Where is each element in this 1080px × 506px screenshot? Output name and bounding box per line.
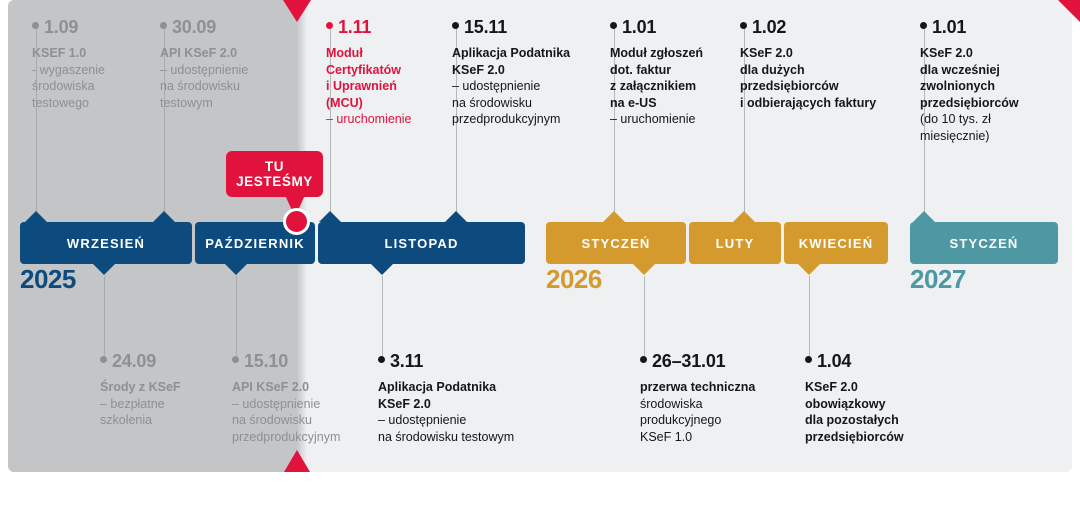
- current-position-callout: TU JESTEŚMY: [226, 151, 323, 197]
- event-description: ModułCertyfikatówi Uprawnień(MCU)– uruch…: [326, 45, 446, 128]
- timeline-event: 26–31.01przerwa technicznaśrodowiskaprod…: [640, 352, 790, 445]
- event-description: Środy z KSeF– bezpłatneszkolenia: [100, 379, 218, 429]
- year-label: 2025: [20, 264, 76, 295]
- connector-line: [382, 276, 383, 356]
- connector-line: [809, 276, 810, 356]
- bullet-dot-icon: [32, 22, 39, 29]
- event-description-line: przedprodukcyjnym: [452, 111, 602, 128]
- event-description-line: - wygaszenie: [32, 62, 152, 79]
- segment-notch-up-icon: [153, 211, 175, 222]
- callout-line-1: TU: [265, 159, 284, 174]
- event-description: Aplikacja PodatnikaKSeF 2.0– udostępnien…: [378, 379, 578, 445]
- event-description: Aplikacja PodatnikaKSeF 2.0– udostępnien…: [452, 45, 602, 128]
- segment-notch-up-icon: [603, 211, 625, 222]
- event-description-line: Aplikacja Podatnika: [452, 45, 602, 62]
- timeline-event: 1.09KSEF 1.0- wygaszenieśrodowiskatestow…: [32, 18, 152, 111]
- segment-notch-down-icon: [371, 264, 393, 275]
- event-description-line: przerwa techniczna: [640, 379, 790, 396]
- event-description-line: API KSeF 2.0: [232, 379, 360, 396]
- event-date: 1.02: [740, 18, 900, 36]
- timeline-month-segment[interactable]: WRZESIEŃ: [20, 222, 192, 264]
- timeline-event: 15.11Aplikacja PodatnikaKSeF 2.0– udostę…: [452, 18, 602, 128]
- bullet-dot-icon: [610, 22, 617, 29]
- event-description-line: KSeF 2.0: [920, 45, 1070, 62]
- event-description-line: testowym: [160, 95, 288, 112]
- event-description: KSEF 1.0- wygaszenieśrodowiskatestowego: [32, 45, 152, 111]
- event-description-line: – udostępnienie: [160, 62, 288, 79]
- event-date-text: 1.09: [44, 17, 78, 37]
- event-description-line: – udostępnienie: [452, 78, 602, 95]
- event-description: KSeF 2.0dla dużychprzedsiębiorcówi odbie…: [740, 45, 900, 111]
- timeline-month-label: KWIECIEŃ: [799, 236, 874, 251]
- event-description-line: z załącznikiem: [610, 78, 736, 95]
- event-date: 24.09: [100, 352, 218, 370]
- event-description-line: Moduł zgłoszeń: [610, 45, 736, 62]
- bullet-dot-icon: [160, 22, 167, 29]
- event-description-line: – uruchomienie: [610, 111, 736, 128]
- event-date-text: 1.11: [338, 17, 371, 37]
- timeline-event: 3.11Aplikacja PodatnikaKSeF 2.0– udostęp…: [378, 352, 578, 445]
- event-description-line: i Uprawnień: [326, 78, 446, 95]
- timeline-event: 1.02KSeF 2.0dla dużychprzedsiębiorcówi o…: [740, 18, 900, 111]
- segment-notch-down-icon: [633, 264, 655, 275]
- timeline-event: 30.09API KSeF 2.0– udostępnieniena środo…: [160, 18, 288, 111]
- segment-notch-up-icon: [25, 211, 47, 222]
- event-description-line: dla wcześniej: [920, 62, 1070, 79]
- segment-notch-up-icon: [319, 211, 341, 222]
- event-date-text: 15.10: [244, 351, 288, 371]
- event-description-line: środowiska: [32, 78, 152, 95]
- connector-line: [236, 276, 237, 356]
- bullet-dot-icon: [920, 22, 927, 29]
- connector-line: [644, 276, 645, 356]
- timeline-event: 24.09Środy z KSeF– bezpłatneszkolenia: [100, 352, 218, 429]
- timeline-month-label: WRZESIEŃ: [67, 236, 145, 251]
- bullet-dot-icon: [232, 356, 239, 363]
- event-description: KSeF 2.0obowiązkowydla pozostałychprzeds…: [805, 379, 955, 445]
- event-description-line: Moduł: [326, 45, 446, 62]
- event-description-line: KSeF 2.0: [740, 45, 900, 62]
- event-description-line: Środy z KSeF: [100, 379, 218, 396]
- event-description-line: obowiązkowy: [805, 396, 955, 413]
- event-description-line: (do 10 tys. zł: [920, 111, 1070, 128]
- event-description-line: na e-US: [610, 95, 736, 112]
- event-description-line: i odbierających faktury: [740, 95, 900, 112]
- bullet-dot-icon: [640, 356, 647, 363]
- event-description-line: na środowisku: [232, 412, 360, 429]
- event-description-line: – uruchomienie: [326, 111, 446, 128]
- event-date: 1.01: [920, 18, 1070, 36]
- event-description-line: na środowisku: [452, 95, 602, 112]
- event-date: 1.09: [32, 18, 152, 36]
- event-date-text: 30.09: [172, 17, 216, 37]
- event-date-text: 1.01: [932, 17, 966, 37]
- event-description-line: przedsiębiorców: [740, 78, 900, 95]
- segment-notch-up-icon: [733, 211, 755, 222]
- event-description-line: KSeF 1.0: [640, 429, 790, 446]
- event-description-line: dla dużych: [740, 62, 900, 79]
- event-description-line: przedsiębiorców: [805, 429, 955, 446]
- event-description: API KSeF 2.0– udostępnieniena środowisku…: [160, 45, 288, 111]
- event-date-text: 1.02: [752, 17, 786, 37]
- event-description: API KSeF 2.0– udostępnieniena środowisku…: [232, 379, 360, 445]
- current-position-dot-icon: [283, 208, 310, 235]
- year-label: 2026: [546, 264, 602, 295]
- event-date-text: 15.11: [464, 17, 507, 37]
- timeline-event: 1.01Moduł zgłoszeńdot. fakturz załącznik…: [610, 18, 736, 128]
- event-description-line: API KSeF 2.0: [160, 45, 288, 62]
- event-date-text: 3.11: [390, 351, 423, 371]
- bullet-dot-icon: [378, 356, 385, 363]
- event-description-line: miesięcznie): [920, 128, 1070, 145]
- bullet-dot-icon: [805, 356, 812, 363]
- event-description-line: KSEF 1.0: [32, 45, 152, 62]
- event-description-line: testowego: [32, 95, 152, 112]
- bullet-dot-icon: [740, 22, 747, 29]
- event-description-line: na środowisku testowym: [378, 429, 578, 446]
- event-description-line: – udostępnienie: [232, 396, 360, 413]
- event-description-line: (MCU): [326, 95, 446, 112]
- timeline-event: 1.11ModułCertyfikatówi Uprawnień(MCU)– u…: [326, 18, 446, 128]
- event-date-text: 1.04: [817, 351, 851, 371]
- event-description-line: – udostępnienie: [378, 412, 578, 429]
- segment-notch-up-icon: [445, 211, 467, 222]
- event-date: 3.11: [378, 352, 578, 370]
- event-date: 26–31.01: [640, 352, 790, 370]
- bullet-dot-icon: [452, 22, 459, 29]
- event-description-line: KSeF 2.0: [805, 379, 955, 396]
- event-description: przerwa technicznaśrodowiskaprodukcyjneg…: [640, 379, 790, 445]
- segment-notch-up-icon: [913, 211, 935, 222]
- event-description-line: produkcyjnego: [640, 412, 790, 429]
- event-description-line: przedsiębiorców: [920, 95, 1070, 112]
- timeline-event: 1.01KSeF 2.0dla wcześniejzwolnionychprze…: [920, 18, 1070, 144]
- timeline-month-segment[interactable]: STYCZEŃ: [910, 222, 1058, 264]
- timeline-month-segment[interactable]: KWIECIEŃ: [784, 222, 888, 264]
- red-wedge-bottom-icon: [284, 450, 310, 472]
- event-date-text: 1.01: [622, 17, 656, 37]
- event-date: 1.04: [805, 352, 955, 370]
- timeline-month-label: LISTOPAD: [384, 236, 458, 251]
- event-description-line: przedprodukcyjnym: [232, 429, 360, 446]
- event-description-line: na środowisku: [160, 78, 288, 95]
- timeline-month-label: STYCZEŃ: [949, 236, 1018, 251]
- timeline-month-segment[interactable]: LISTOPAD: [318, 222, 525, 264]
- event-description-line: – bezpłatne: [100, 396, 218, 413]
- event-date: 30.09: [160, 18, 288, 36]
- timeline-month-label: PAŹDZIERNIK: [205, 236, 305, 251]
- event-description-line: zwolnionych: [920, 78, 1070, 95]
- segment-notch-down-icon: [798, 264, 820, 275]
- event-description: KSeF 2.0dla wcześniejzwolnionychprzedsię…: [920, 45, 1070, 144]
- event-description-line: dla pozostałych: [805, 412, 955, 429]
- timeline-event: 1.04KSeF 2.0obowiązkowydla pozostałychpr…: [805, 352, 955, 445]
- segment-notch-down-icon: [225, 264, 247, 275]
- timeline-infographic: 1.09KSEF 1.0- wygaszenieśrodowiskatestow…: [0, 0, 1080, 506]
- event-description-line: dot. faktur: [610, 62, 736, 79]
- timeline-month-segment[interactable]: STYCZEŃ: [546, 222, 686, 264]
- event-description: Moduł zgłoszeńdot. fakturz załącznikiemn…: [610, 45, 736, 128]
- bullet-dot-icon: [326, 22, 333, 29]
- event-date: 15.10: [232, 352, 360, 370]
- event-description-line: KSeF 2.0: [378, 396, 578, 413]
- event-description-line: środowiska: [640, 396, 790, 413]
- event-date: 15.11: [452, 18, 602, 36]
- event-description-line: szkolenia: [100, 412, 218, 429]
- event-date: 1.01: [610, 18, 736, 36]
- timeline-month-segment[interactable]: LUTY: [689, 222, 781, 264]
- bullet-dot-icon: [100, 356, 107, 363]
- timeline-month-label: STYCZEŃ: [581, 236, 650, 251]
- event-date-text: 26–31.01: [652, 351, 725, 371]
- event-date: 1.11: [326, 18, 446, 36]
- year-label: 2027: [910, 264, 966, 295]
- callout-line-2: JESTEŚMY: [236, 174, 313, 189]
- event-description-line: Aplikacja Podatnika: [378, 379, 578, 396]
- timeline-event: 15.10API KSeF 2.0– udostępnieniena środo…: [232, 352, 360, 445]
- event-date-text: 24.09: [112, 351, 156, 371]
- connector-line: [104, 276, 105, 356]
- event-description-line: KSeF 2.0: [452, 62, 602, 79]
- event-description-line: Certyfikatów: [326, 62, 446, 79]
- timeline-month-label: LUTY: [716, 236, 755, 251]
- segment-notch-down-icon: [93, 264, 115, 275]
